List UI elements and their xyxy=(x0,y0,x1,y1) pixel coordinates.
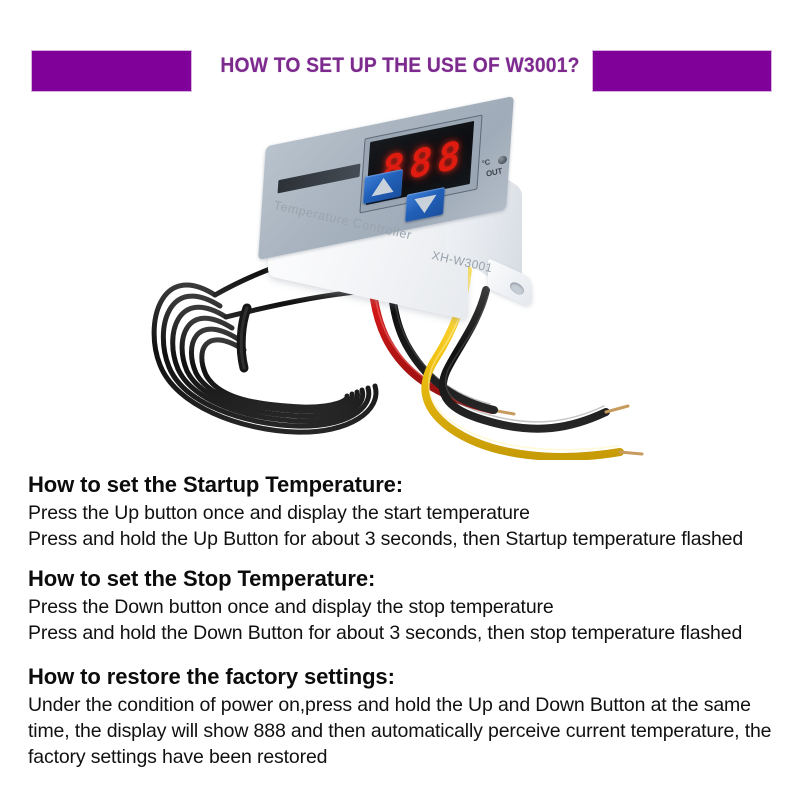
black-wire-tip xyxy=(606,406,628,412)
section-heading: How to restore the factory settings: xyxy=(28,662,780,692)
decoration-bar-left xyxy=(31,50,192,92)
section-stop-temperature: How to set the Stop Temperature: Press t… xyxy=(28,564,780,646)
led-digit-3: 8 xyxy=(434,134,464,180)
section-startup-temperature: How to set the Startup Temperature: Pres… xyxy=(28,470,780,552)
page-title: HOW TO SET UP THE USE OF W3001? xyxy=(216,54,584,78)
section-line: Press and hold the Down Button for about… xyxy=(28,620,780,646)
celsius-unit-label: °C xyxy=(481,157,490,168)
section-heading: How to set the Stop Temperature: xyxy=(28,564,780,594)
decoration-bar-right xyxy=(592,50,772,92)
yellow-wire-tip xyxy=(620,452,642,454)
red-wire-tip xyxy=(492,410,514,414)
instructions-block: How to set the Startup Temperature: Pres… xyxy=(28,470,780,782)
page-root: HOW TO SET UP THE USE OF W3001? xyxy=(0,0,800,800)
page-header: HOW TO SET UP THE USE OF W3001? xyxy=(0,0,800,110)
cable-tie xyxy=(241,308,247,368)
temperature-controller-device: 8 8 8 °C OUT Temperature Controller XH-W… xyxy=(250,120,510,320)
section-factory-reset: How to restore the factory settings: Und… xyxy=(28,662,780,770)
section-line: Press and hold the Up Button for about 3… xyxy=(28,526,780,552)
led-digit-2: 8 xyxy=(406,140,436,186)
triangle-down-icon xyxy=(413,195,436,216)
section-line: Press the Up button once and display the… xyxy=(28,500,780,526)
section-line: Under the condition of power on,press an… xyxy=(28,692,780,770)
product-photo: 8 8 8 °C OUT Temperature Controller XH-W… xyxy=(120,110,680,460)
triangle-up-icon xyxy=(371,176,394,197)
section-line: Press the Down button once and display t… xyxy=(28,594,780,620)
section-heading: How to set the Startup Temperature: xyxy=(28,470,780,500)
